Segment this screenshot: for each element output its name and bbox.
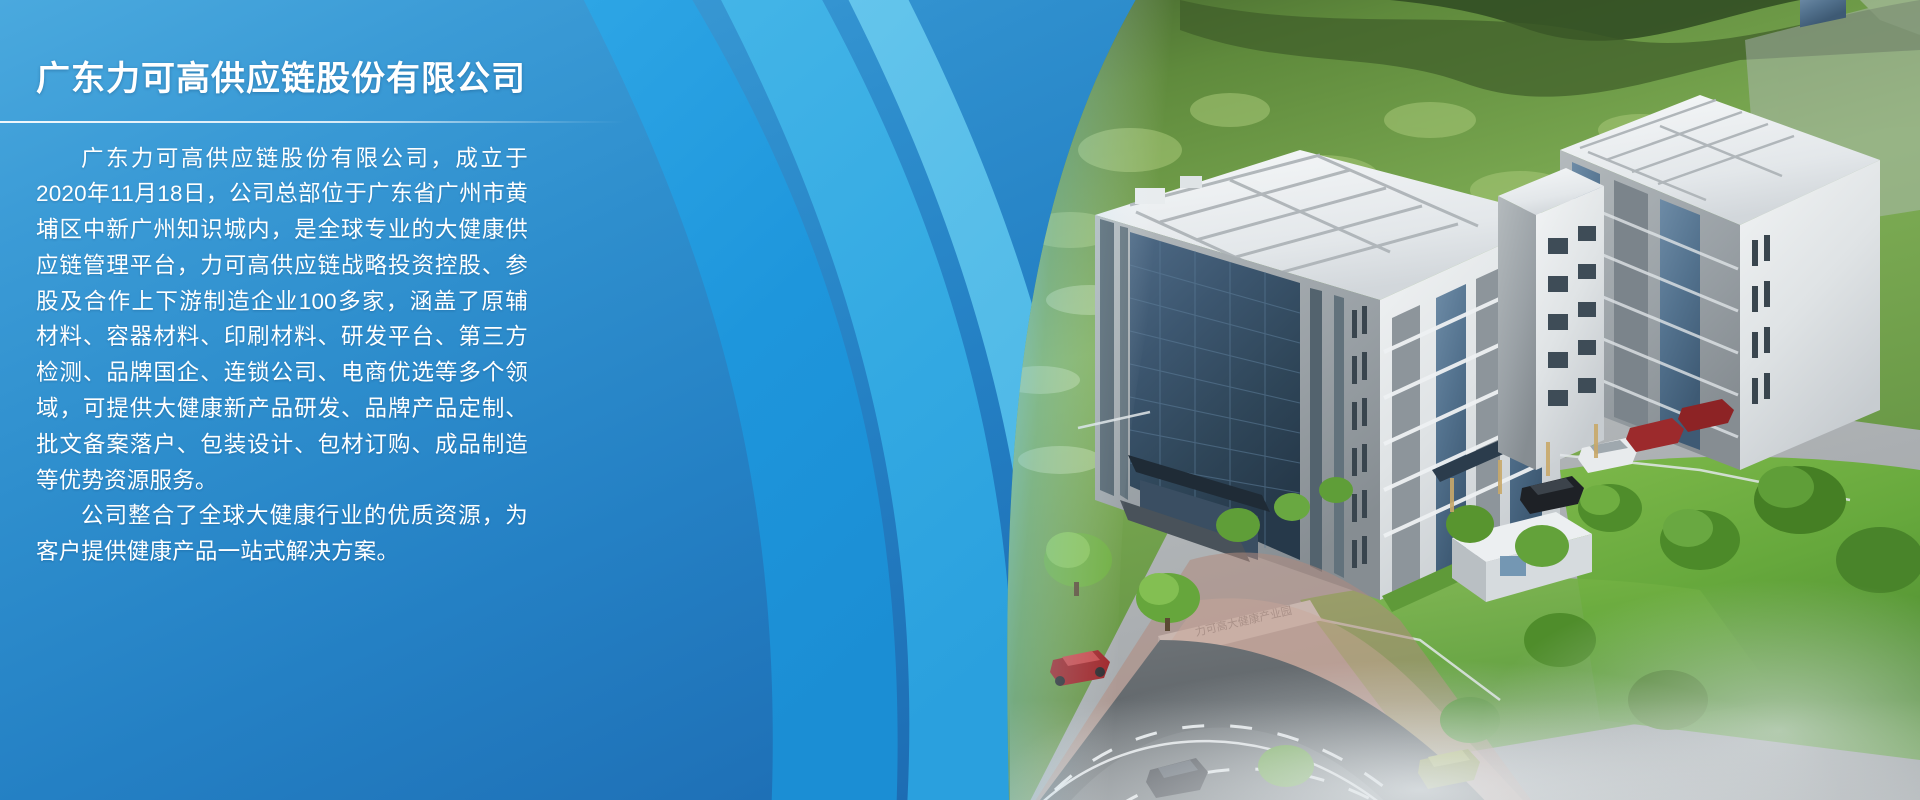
title-divider bbox=[0, 121, 624, 123]
paragraph-2: 公司整合了全球大健康行业的优质资源，为客户提供健康产品一站式解决方案。 bbox=[36, 498, 528, 570]
page-title: 广东力可高供应链股份有限公司 bbox=[36, 58, 596, 101]
text-column: 广东力可高供应链股份有限公司 广东力可高供应链股份有限公司，成立于2020年11… bbox=[0, 0, 596, 570]
company-profile-banner: 力可高大健康产业园 bbox=[0, 0, 1920, 800]
paragraph-1: 广东力可高供应链股份有限公司，成立于2020年11月18日，公司总部位于广东省广… bbox=[36, 141, 528, 499]
company-description: 广东力可高供应链股份有限公司，成立于2020年11月18日，公司总部位于广东省广… bbox=[36, 141, 528, 571]
building-stair-tower bbox=[1498, 168, 1604, 470]
